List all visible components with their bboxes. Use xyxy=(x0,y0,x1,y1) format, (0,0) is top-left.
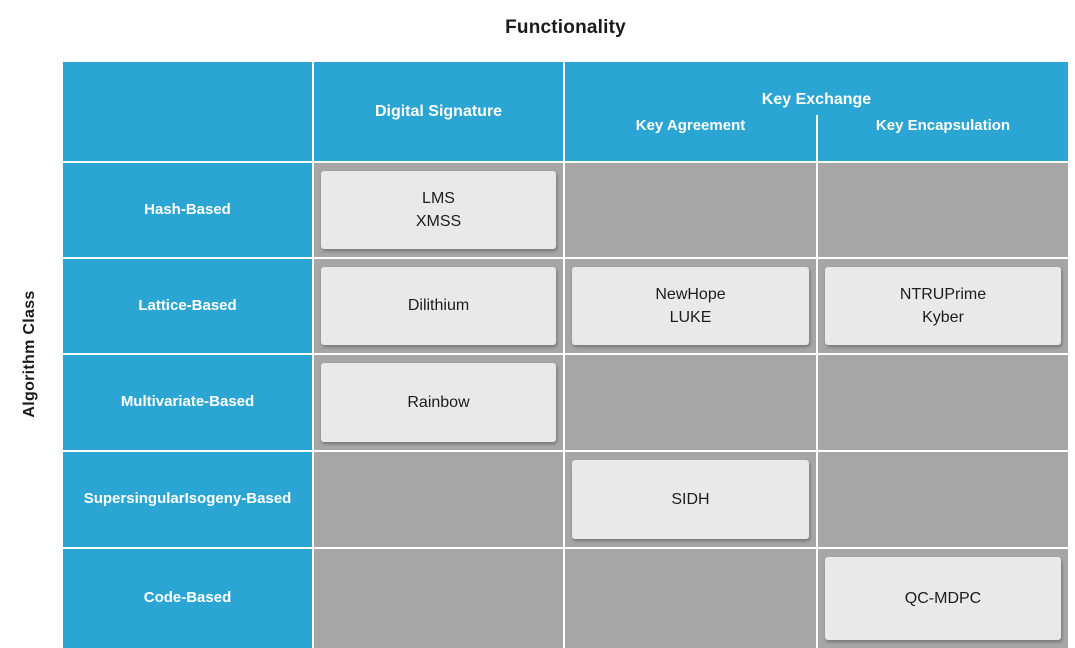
row-label-line: Supersingular xyxy=(84,490,185,509)
functionality-algorithm-matrix: Digital Signature Key Exchange Key Agree… xyxy=(63,62,1068,648)
matrix-cell: Dilithium xyxy=(314,257,565,353)
axis-label-algorithm-class: Algorithm Class xyxy=(21,254,39,454)
algorithm-box: QC-MDPC xyxy=(825,557,1061,640)
row-label-code-based: Code-Based xyxy=(63,547,314,648)
algorithm-box: NTRUPrimeKyber xyxy=(825,267,1061,345)
algorithm-box: NewHopeLUKE xyxy=(572,267,809,345)
header-key-exchange: Key Exchange xyxy=(565,62,1068,115)
matrix-cell xyxy=(818,450,1068,547)
row-label-line: Code-Based xyxy=(144,589,232,608)
algorithm-name: Kyber xyxy=(922,306,964,329)
matrix-cell: NewHopeLUKE xyxy=(565,257,818,353)
header-digital-signature: Digital Signature xyxy=(314,62,565,161)
header-corner-blank xyxy=(63,62,314,161)
matrix-cell xyxy=(565,161,818,257)
algorithm-box: SIDH xyxy=(572,460,809,539)
matrix-grid: Digital Signature Key Exchange Key Agree… xyxy=(63,62,1068,648)
row-label-lattice-based: Lattice-Based xyxy=(63,257,314,353)
matrix-cell: LMSXMSS xyxy=(314,161,565,257)
algorithm-name: LMS xyxy=(422,187,455,210)
row-label-multivariate-based: Multivariate-Based xyxy=(63,353,314,450)
algorithm-name: LUKE xyxy=(670,306,712,329)
row-label-line: Hash-Based xyxy=(144,201,231,220)
algorithm-name: XMSS xyxy=(416,210,461,233)
row-label-supersingular-isogeny-based: SupersingularIsogeny-Based xyxy=(63,450,314,547)
matrix-cell xyxy=(565,353,818,450)
algorithm-name: SIDH xyxy=(671,488,709,511)
row-label-hash-based: Hash-Based xyxy=(63,161,314,257)
matrix-cell: Rainbow xyxy=(314,353,565,450)
row-label-line: Isogeny-Based xyxy=(185,490,292,509)
row-label-line: Multivariate-Based xyxy=(121,393,254,412)
page-title: Functionality xyxy=(63,17,1068,39)
matrix-cell: NTRUPrimeKyber xyxy=(818,257,1068,353)
matrix-cell: SIDH xyxy=(565,450,818,547)
algorithm-box: Rainbow xyxy=(321,363,556,442)
algorithm-name: Rainbow xyxy=(407,391,469,414)
header-key-agreement: Key Agreement xyxy=(565,115,818,161)
row-label-line: Lattice-Based xyxy=(138,297,236,316)
algorithm-name: NTRUPrime xyxy=(900,283,986,306)
matrix-cell xyxy=(314,450,565,547)
matrix-cell xyxy=(314,547,565,648)
header-key-encapsulation: Key Encapsulation xyxy=(818,115,1068,161)
algorithm-box: Dilithium xyxy=(321,267,556,345)
matrix-cell: QC-MDPC xyxy=(818,547,1068,648)
matrix-cell xyxy=(818,161,1068,257)
algorithm-box: LMSXMSS xyxy=(321,171,556,249)
algorithm-name: QC-MDPC xyxy=(905,587,981,610)
algorithm-name: Dilithium xyxy=(408,294,469,317)
matrix-cell xyxy=(818,353,1068,450)
matrix-cell xyxy=(565,547,818,648)
algorithm-name: NewHope xyxy=(655,283,725,306)
